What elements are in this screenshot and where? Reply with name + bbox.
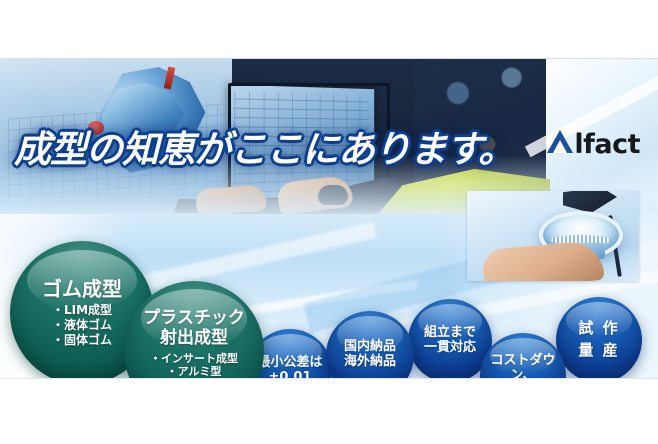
page-root: 成型の知恵がここにあります。 lfact ゴム成型 ・LIM成型 ・液体ゴム ・…	[0, 0, 658, 444]
hero-banner[interactable]: 成型の知恵がここにあります。 lfact ゴム成型 ・LIM成型 ・液体ゴム ・…	[0, 58, 658, 379]
brand-logo[interactable]: lfact	[547, 129, 640, 160]
bubble-item: ・LIM成型	[52, 303, 112, 318]
bubble-line: 国内納品	[344, 340, 396, 355]
bubble-line: 組立まで	[424, 326, 476, 341]
bubble-line: ±0.01	[269, 371, 312, 379]
bubble-item: ・固体ゴム	[52, 333, 112, 348]
triangle-a-mark-icon	[547, 130, 573, 153]
page-title: 成型の知恵がここにあります。	[14, 131, 514, 168]
bubble-title: ゴム成型	[42, 278, 122, 300]
bubble-item: ・インサート成型	[150, 352, 238, 366]
magnifier-inspection-photo	[467, 191, 639, 281]
bubble-line: 試 作	[578, 318, 619, 340]
bubble-title-line: プラスチック	[143, 309, 245, 329]
bubble-line: 海外納品	[344, 355, 396, 370]
bubble-item: ・液体ゴム	[52, 318, 112, 333]
bubble-prototype-production[interactable]: 試 作 量 産	[556, 297, 642, 379]
bubble-line: コストダウン、	[480, 354, 566, 379]
bubble-title-line: 射出成型	[160, 329, 228, 349]
bubble-line: 一貫対応	[424, 341, 476, 356]
brand-logo-text: lfact	[574, 129, 640, 160]
bubble-item: ・アルミ型	[167, 365, 222, 379]
bubble-line: 量 産	[578, 340, 619, 362]
bubble-line: 最小公差は	[257, 356, 322, 371]
